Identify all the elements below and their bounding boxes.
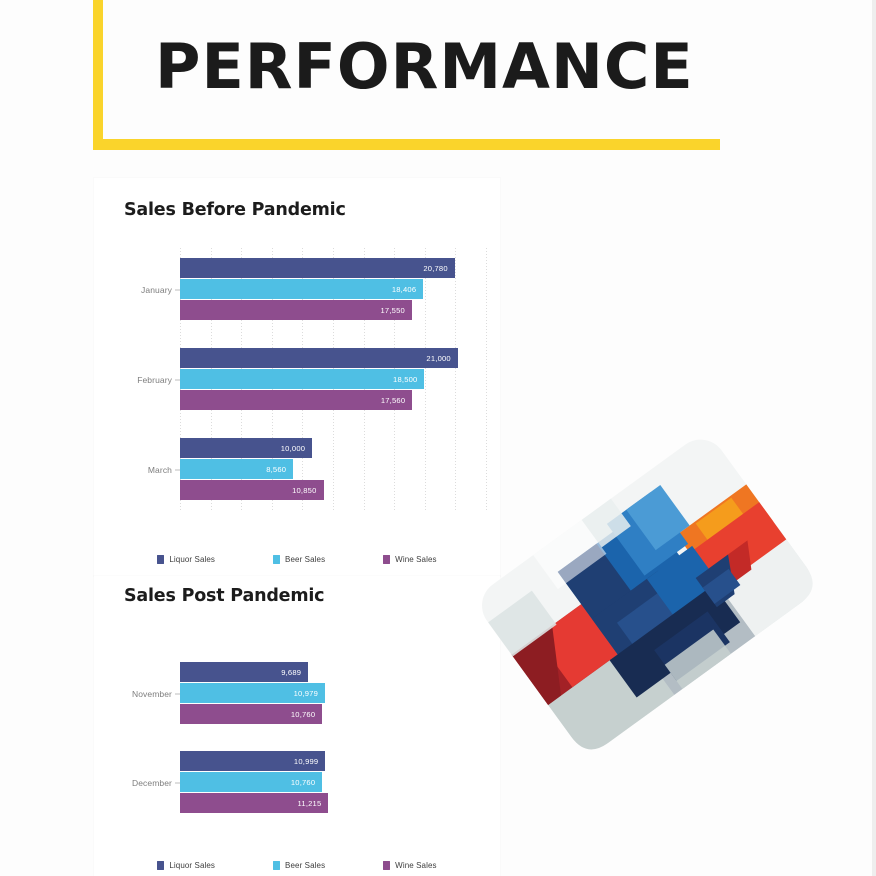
bar-value-label: 10,760 xyxy=(291,778,315,787)
bar-value-label: 10,760 xyxy=(291,710,315,719)
legend-label: Liquor Sales xyxy=(169,555,215,564)
bar-value-label: 9,689 xyxy=(281,668,301,677)
square-swatch-icon xyxy=(157,861,164,870)
bar-value-label: 10,000 xyxy=(281,444,305,453)
square-swatch-icon xyxy=(383,555,390,564)
legend-label: Wine Sales xyxy=(395,555,436,564)
legend-label: Beer Sales xyxy=(285,555,325,564)
gridline xyxy=(486,248,487,512)
square-swatch-icon xyxy=(273,555,280,564)
bar-value-label: 17,560 xyxy=(381,396,405,405)
bar-row: 10,850 xyxy=(180,480,486,500)
legend-item-wine[interactable]: Wine Sales xyxy=(383,555,436,564)
bar-beer-march[interactable]: 8,560 xyxy=(180,459,293,479)
chart-title: Sales Before Pandemic xyxy=(124,200,346,220)
legend-item-beer[interactable]: Beer Sales xyxy=(273,555,325,564)
bar-wine-december[interactable]: 11,215 xyxy=(180,793,328,813)
legend-item-liquor[interactable]: Liquor Sales xyxy=(157,555,215,564)
bar-value-label: 20,780 xyxy=(423,264,447,273)
poster-page: PERFORMANCE Sales Before Pandemic Januar… xyxy=(0,0,876,876)
bar-wine-january[interactable]: 17,550 xyxy=(180,300,412,320)
bar-row: 21,000 xyxy=(180,348,486,368)
chart-legend: Liquor Sales Beer Sales Wine Sales xyxy=(94,555,500,564)
square-swatch-icon xyxy=(383,861,390,870)
chart-legend: Liquor Sales Beer Sales Wine Sales xyxy=(94,861,500,870)
category-label: December xyxy=(132,778,172,788)
bar-group-december: December 10,999 10,760 11,215 xyxy=(180,751,486,815)
category-label: November xyxy=(132,689,172,699)
legend-label: Wine Sales xyxy=(395,861,436,870)
bar-row: 20,780 xyxy=(180,258,486,278)
abstract-polygon-graphic xyxy=(460,415,830,775)
bar-liquor-march[interactable]: 10,000 xyxy=(180,438,312,458)
bar-beer-november[interactable]: 10,979 xyxy=(180,683,325,703)
bar-row: 10,979 xyxy=(180,683,486,703)
bar-group-february: February 21,000 18,500 17,560 xyxy=(180,348,486,412)
bar-liquor-january[interactable]: 20,780 xyxy=(180,258,455,278)
bar-value-label: 17,550 xyxy=(381,306,405,315)
square-swatch-icon xyxy=(273,861,280,870)
bar-value-label: 10,999 xyxy=(294,757,318,766)
bar-row: 8,560 xyxy=(180,459,486,479)
bar-wine-march[interactable]: 10,850 xyxy=(180,480,324,500)
square-swatch-icon xyxy=(157,555,164,564)
bar-beer-february[interactable]: 18,500 xyxy=(180,369,424,389)
bar-beer-january[interactable]: 18,406 xyxy=(180,279,423,299)
bar-row: 10,760 xyxy=(180,704,486,724)
bar-group-january: January 20,780 18,406 17,550 xyxy=(180,258,486,322)
legend-label: Liquor Sales xyxy=(169,861,215,870)
category-label: March xyxy=(148,465,172,475)
bar-value-label: 10,979 xyxy=(294,689,318,698)
category-label: February xyxy=(137,375,172,385)
chart-card-sales-before-pandemic: Sales Before Pandemic January 20,780 18,… xyxy=(94,178,500,576)
chart-plot-area: January 20,780 18,406 17,550 xyxy=(94,248,500,538)
legend-item-beer[interactable]: Beer Sales xyxy=(273,861,325,870)
bar-liquor-november[interactable]: 9,689 xyxy=(180,662,308,682)
bar-row: 18,406 xyxy=(180,279,486,299)
frame-left-bar xyxy=(93,0,103,150)
frame-bottom-bar xyxy=(93,139,720,150)
page-edge xyxy=(872,0,876,876)
legend-item-wine[interactable]: Wine Sales xyxy=(383,861,436,870)
bar-row: 10,000 xyxy=(180,438,486,458)
bar-row: 9,689 xyxy=(180,662,486,682)
bar-group-march: March 10,000 8,560 10,850 xyxy=(180,438,486,502)
bar-liquor-february[interactable]: 21,000 xyxy=(180,348,458,368)
bar-row: 18,500 xyxy=(180,369,486,389)
bar-value-label: 18,406 xyxy=(392,285,416,294)
category-label: January xyxy=(141,285,172,295)
bar-row: 10,760 xyxy=(180,772,486,792)
chart-plot-area: November 9,689 10,979 10,760 xyxy=(94,638,500,848)
legend-label: Beer Sales xyxy=(285,861,325,870)
bar-row: 11,215 xyxy=(180,793,486,813)
bar-beer-december[interactable]: 10,760 xyxy=(180,772,322,792)
bar-value-label: 8,560 xyxy=(266,465,286,474)
bar-value-label: 18,500 xyxy=(393,375,417,384)
bar-group-november: November 9,689 10,979 10,760 xyxy=(180,662,486,726)
bar-wine-february[interactable]: 17,560 xyxy=(180,390,412,410)
legend-item-liquor[interactable]: Liquor Sales xyxy=(157,861,215,870)
chart-title: Sales Post Pandemic xyxy=(124,586,324,606)
bar-value-label: 21,000 xyxy=(426,354,450,363)
page-title: PERFORMANCE xyxy=(155,36,694,98)
bar-row: 17,560 xyxy=(180,390,486,410)
bar-wine-november[interactable]: 10,760 xyxy=(180,704,322,724)
bar-value-label: 10,850 xyxy=(292,486,316,495)
chart-card-sales-post-pandemic: Sales Post Pandemic November 9,689 10,97… xyxy=(94,576,500,876)
bar-value-label: 11,215 xyxy=(298,799,322,808)
bar-liquor-december[interactable]: 10,999 xyxy=(180,751,325,771)
bar-row: 10,999 xyxy=(180,751,486,771)
bar-row: 17,550 xyxy=(180,300,486,320)
